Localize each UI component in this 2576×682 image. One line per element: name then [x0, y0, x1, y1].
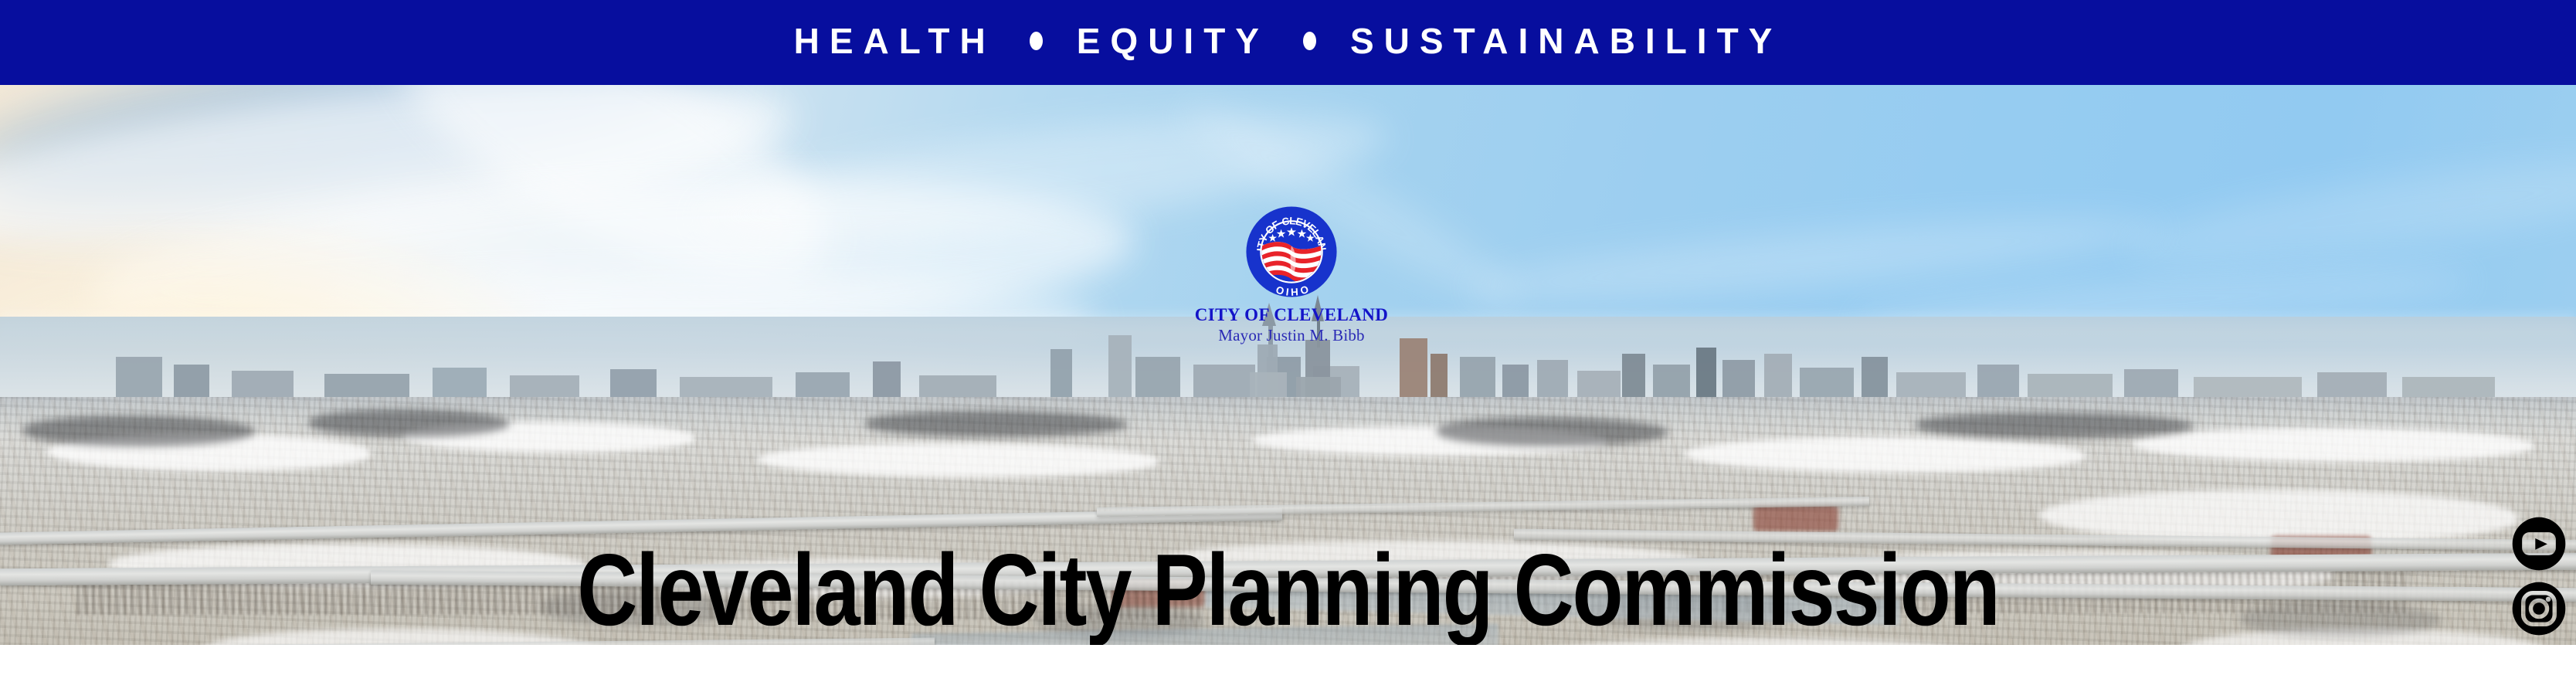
- tagline-banner: HEALTH EQUITY SUSTAINABILITY: [0, 0, 2576, 85]
- tagline-inner: HEALTH EQUITY SUSTAINABILITY: [794, 23, 1783, 59]
- tagline-word-health: HEALTH: [794, 23, 996, 59]
- hero-banner-image: CITY OF CLEVELAND OHIO: [0, 85, 2576, 645]
- facebook-icon[interactable]: [2509, 643, 2569, 645]
- seal-caption-title: CITY OF CLEVELAND: [1176, 306, 1407, 324]
- tagline-word-equity: EQUITY: [1077, 23, 1269, 59]
- tagline-word-sustainability: SUSTAINABILITY: [1350, 23, 1782, 59]
- instagram-icon[interactable]: [2509, 579, 2569, 639]
- social-links: [2506, 514, 2571, 645]
- city-of-cleveland-seal-block: CITY OF CLEVELAND OHIO: [1176, 205, 1407, 344]
- tagline-separator-dot-2: [1303, 32, 1316, 50]
- youtube-icon[interactable]: [2509, 514, 2569, 574]
- city-of-cleveland-seal-icon: CITY OF CLEVELAND OHIO: [1244, 205, 1339, 299]
- seal-caption-subtitle: Mayor Justin M. Bibb: [1176, 327, 1407, 344]
- page-root: HEALTH EQUITY SUSTAINABILITY: [0, 0, 2576, 682]
- tagline-separator-dot-1: [1030, 32, 1043, 50]
- page-title: Cleveland City Planning Commission: [0, 539, 2576, 641]
